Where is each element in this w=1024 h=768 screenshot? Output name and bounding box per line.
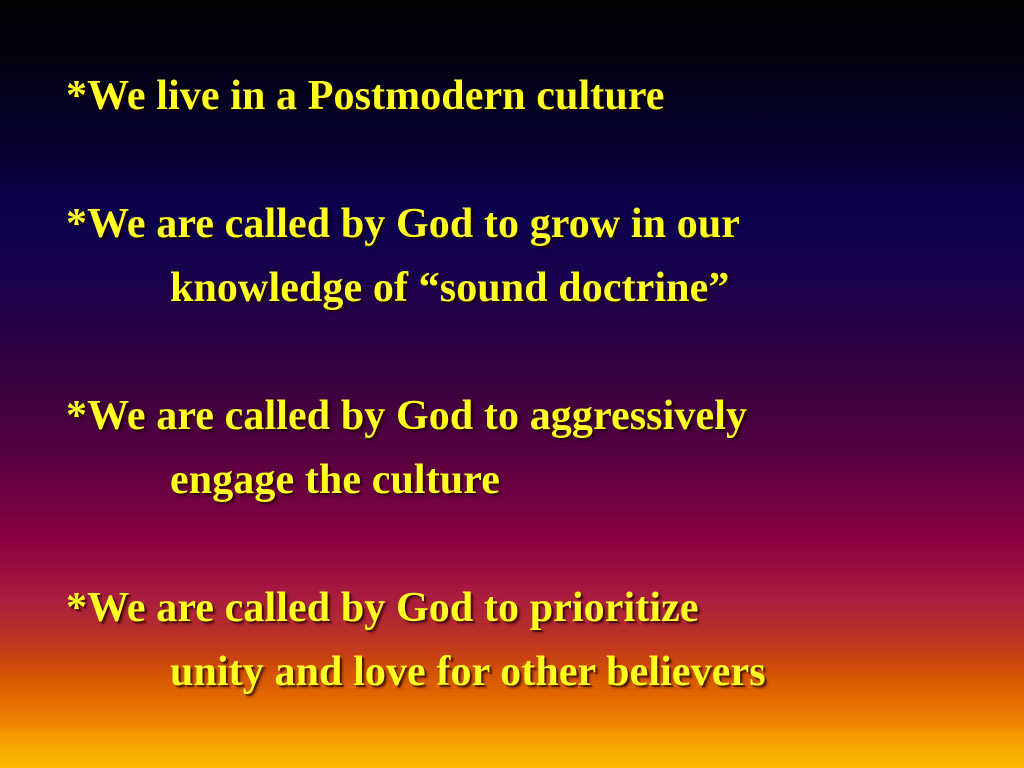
slide-content: *We live in a Postmodern culture *We are… <box>0 0 1024 704</box>
bullet-3-line-1: *We are called by God to aggressively <box>0 384 1024 448</box>
bullet-2-line-1: *We are called by God to grow in our <box>0 192 1024 256</box>
bullet-1-line-1: *We live in a Postmodern culture <box>0 64 1024 128</box>
bullet-block-1: *We live in a Postmodern culture <box>0 64 1024 128</box>
bullet-4-line-2: unity and love for other believers <box>0 640 1024 704</box>
slide-canvas: *We live in a Postmodern culture *We are… <box>0 0 1024 768</box>
bullet-block-4: *We are called by God to prioritize unit… <box>0 576 1024 704</box>
gap-1 <box>0 128 1024 192</box>
gap-2 <box>0 320 1024 384</box>
bullet-block-2: *We are called by God to grow in our kno… <box>0 192 1024 320</box>
bullet-2-line-2: knowledge of “sound doctrine” <box>0 256 1024 320</box>
gap-3 <box>0 512 1024 576</box>
bullet-3-line-2: engage the culture <box>0 448 1024 512</box>
bullet-block-3: *We are called by God to aggressively en… <box>0 384 1024 512</box>
top-spacer <box>0 0 1024 64</box>
bullet-4-line-1: *We are called by God to prioritize <box>0 576 1024 640</box>
